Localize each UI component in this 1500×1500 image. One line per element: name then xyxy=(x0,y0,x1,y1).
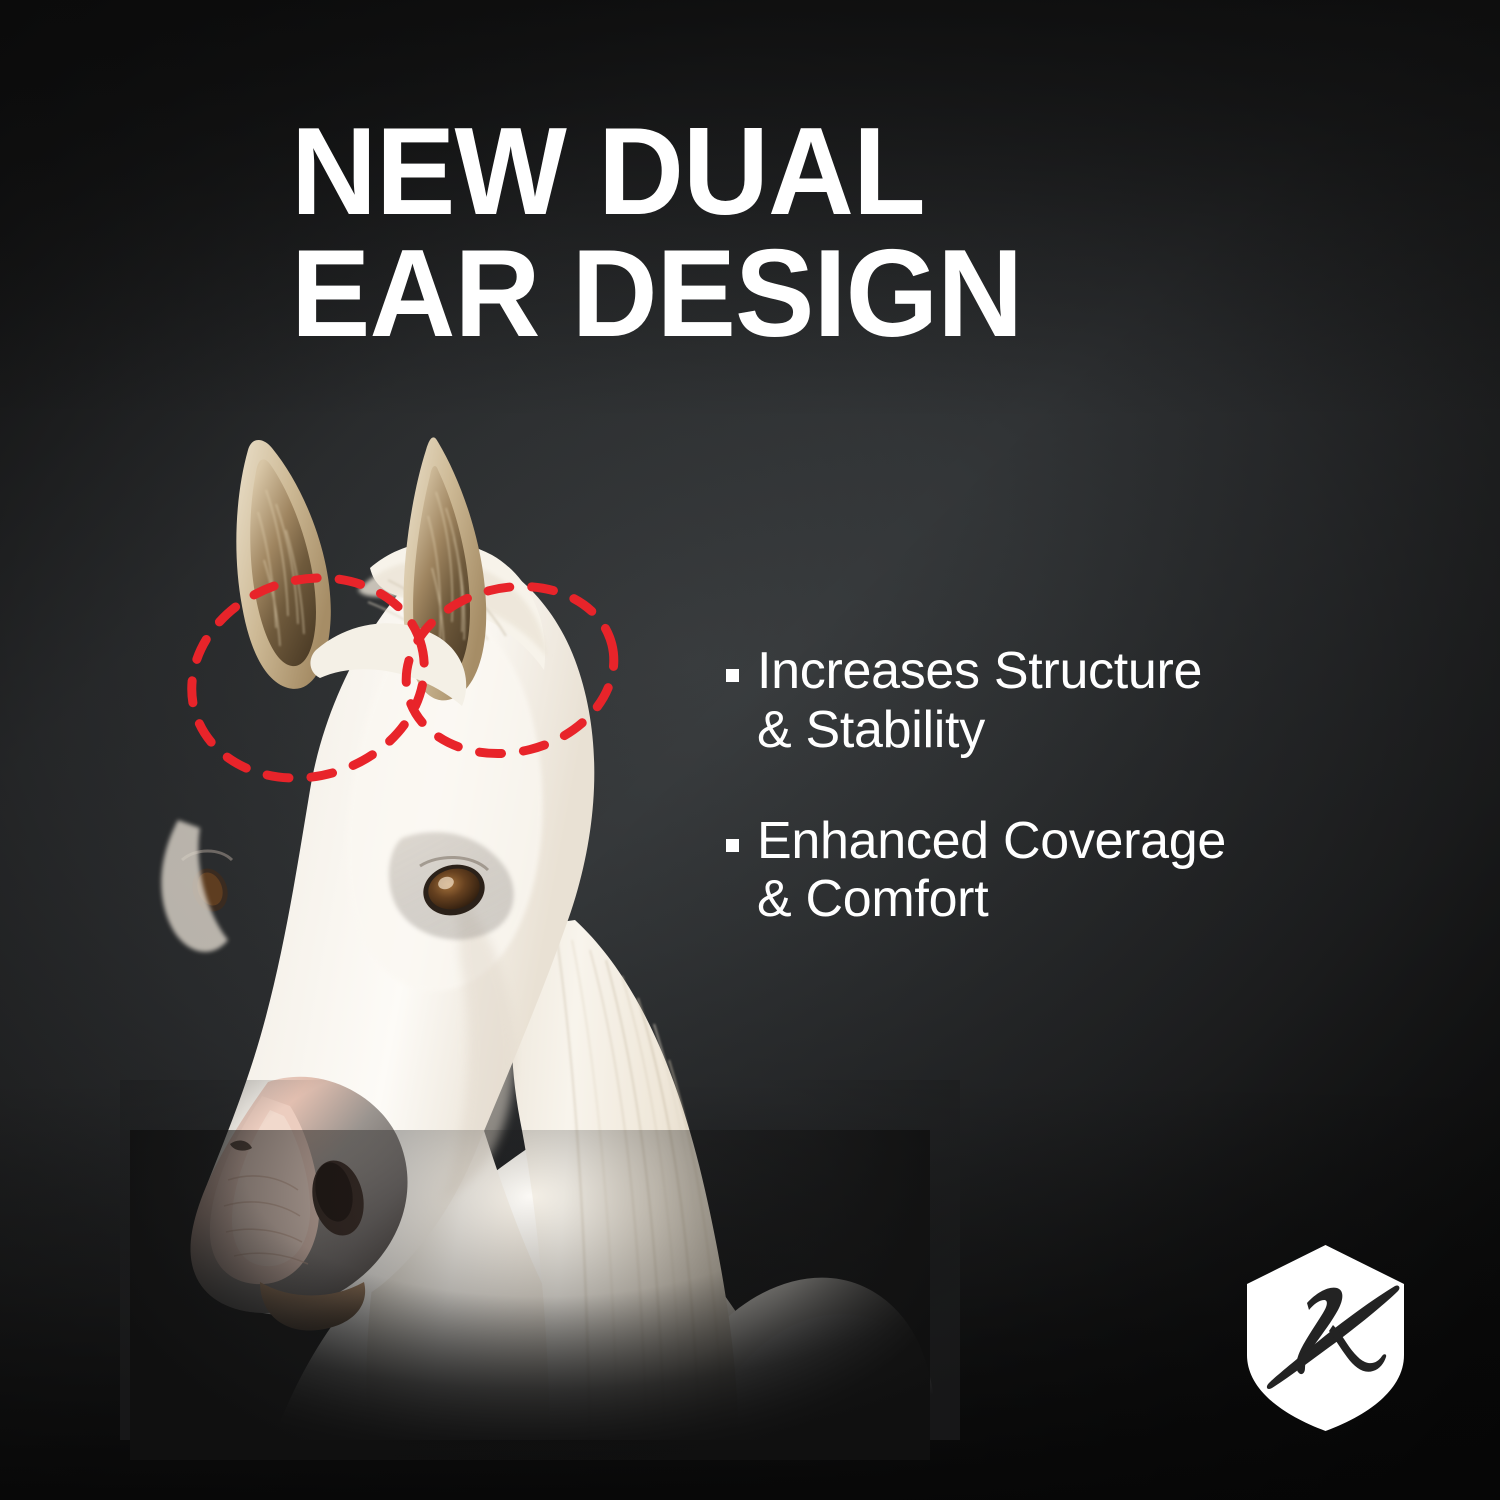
square-bullet-icon xyxy=(726,839,739,852)
list-item-label: Enhanced Coverage & Comfort xyxy=(757,812,1226,930)
headline-line-1: NEW DUAL xyxy=(291,112,1232,234)
list-item: Enhanced Coverage & Comfort xyxy=(726,812,1426,930)
horse-illustration xyxy=(120,420,960,1440)
headline-line-2: EAR DESIGN xyxy=(291,234,1232,356)
list-item: Increases Structure & Stability xyxy=(726,642,1426,760)
square-bullet-icon xyxy=(726,669,739,682)
feature-list: Increases Structure & Stability Enhanced… xyxy=(726,642,1426,929)
brand-logo xyxy=(1243,1243,1408,1433)
list-item-label: Increases Structure & Stability xyxy=(757,642,1202,760)
promo-graphic: NEW DUAL EAR DESIGN xyxy=(0,0,1500,1500)
page-title: NEW DUAL EAR DESIGN xyxy=(291,112,1232,355)
